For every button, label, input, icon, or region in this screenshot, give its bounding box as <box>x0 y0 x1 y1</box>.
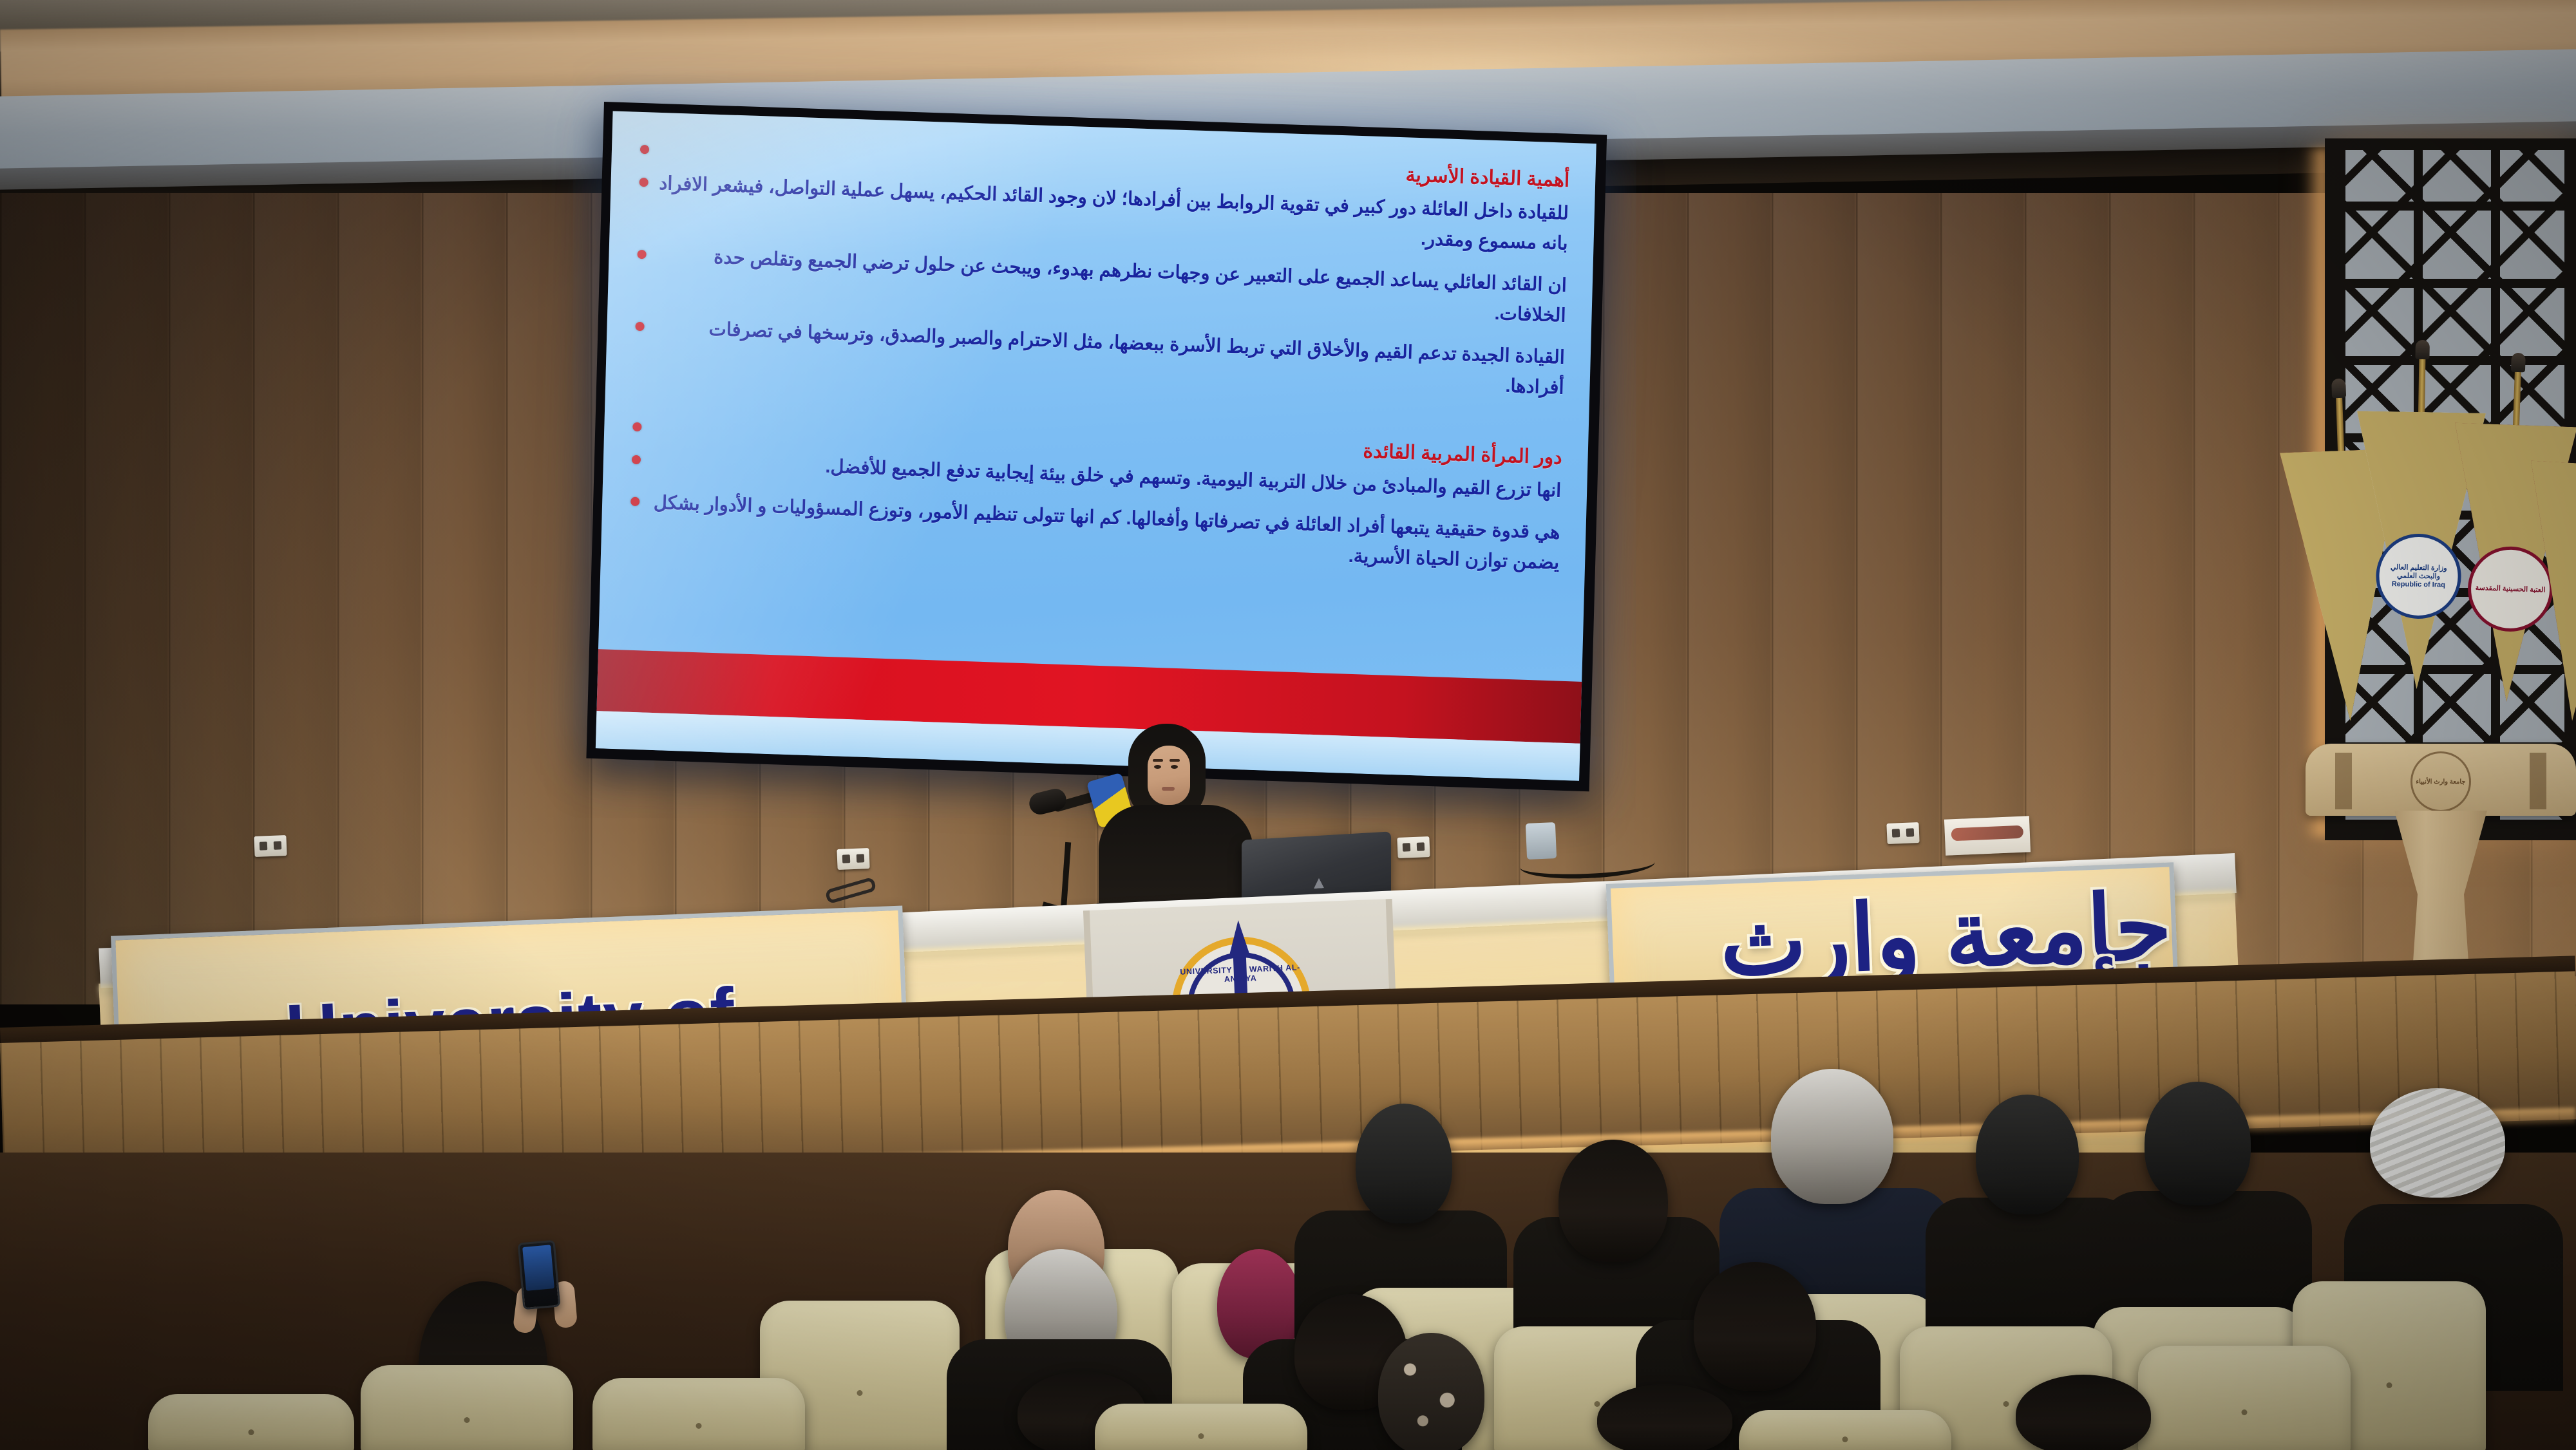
seat <box>1739 1410 1951 1450</box>
eyebrow <box>1153 759 1163 762</box>
wall-socket <box>1886 822 1919 844</box>
tissue-box-band <box>1951 825 2023 842</box>
eye <box>1171 765 1178 769</box>
presenter-face <box>1148 746 1190 805</box>
emblem-pen-nib-icon <box>1227 919 1251 957</box>
audience-head <box>2016 1375 2151 1450</box>
lectern-stripe <box>2335 753 2352 809</box>
bullet-dot-icon <box>639 178 648 187</box>
lecture-hall-photo: أهمية القيادة الأسرية للقيادة داخل العائ… <box>0 0 2576 1450</box>
audience-head <box>1558 1140 1668 1262</box>
projection-screen-frame: أهمية القيادة الأسرية للقيادة داخل العائ… <box>586 102 1607 791</box>
bullet-dot-icon <box>632 422 641 431</box>
bullet-dot-icon <box>635 322 644 331</box>
audience-head-turban <box>2370 1088 2505 1198</box>
seat <box>148 1394 354 1450</box>
eye <box>1154 765 1161 769</box>
flag-finial-icon <box>2511 353 2526 373</box>
seat <box>592 1378 805 1450</box>
audience-head-patterned-scarf <box>1378 1333 1484 1450</box>
audience-head <box>1356 1104 1452 1223</box>
lectern-stripe <box>2530 753 2546 809</box>
slide-content: أهمية القيادة الأسرية للقيادة داخل العائ… <box>601 111 1596 590</box>
bullet-dot-icon <box>630 496 639 505</box>
mobile-phone[interactable] <box>518 1240 561 1310</box>
bullet-dot-icon <box>632 455 641 464</box>
flag-finial-icon <box>2331 379 2346 399</box>
audience-head <box>1597 1384 1732 1450</box>
audience-head <box>1694 1262 1816 1391</box>
seat <box>1095 1404 1307 1450</box>
bullet-dot-icon <box>640 145 649 154</box>
bullet-dot-icon <box>637 250 646 259</box>
mouth <box>1162 787 1175 791</box>
lectern-top: جامعة وارث الأنبياء <box>2306 744 2576 816</box>
lectern-stem <box>2376 811 2505 972</box>
lectern-seal: جامعة وارث الأنبياء <box>2410 751 2471 812</box>
projection-screen: أهمية القيادة الأسرية للقيادة داخل العائ… <box>596 111 1596 780</box>
audience-head <box>2145 1082 2251 1205</box>
seat <box>2138 1346 2351 1450</box>
eyebrow <box>1170 759 1180 762</box>
audience-head <box>1976 1095 2079 1214</box>
audience-head <box>1771 1069 1893 1204</box>
seat <box>361 1365 573 1450</box>
tissue-box <box>1944 816 2031 855</box>
phone-screen <box>522 1245 554 1291</box>
flag-finial-icon <box>2415 340 2430 359</box>
